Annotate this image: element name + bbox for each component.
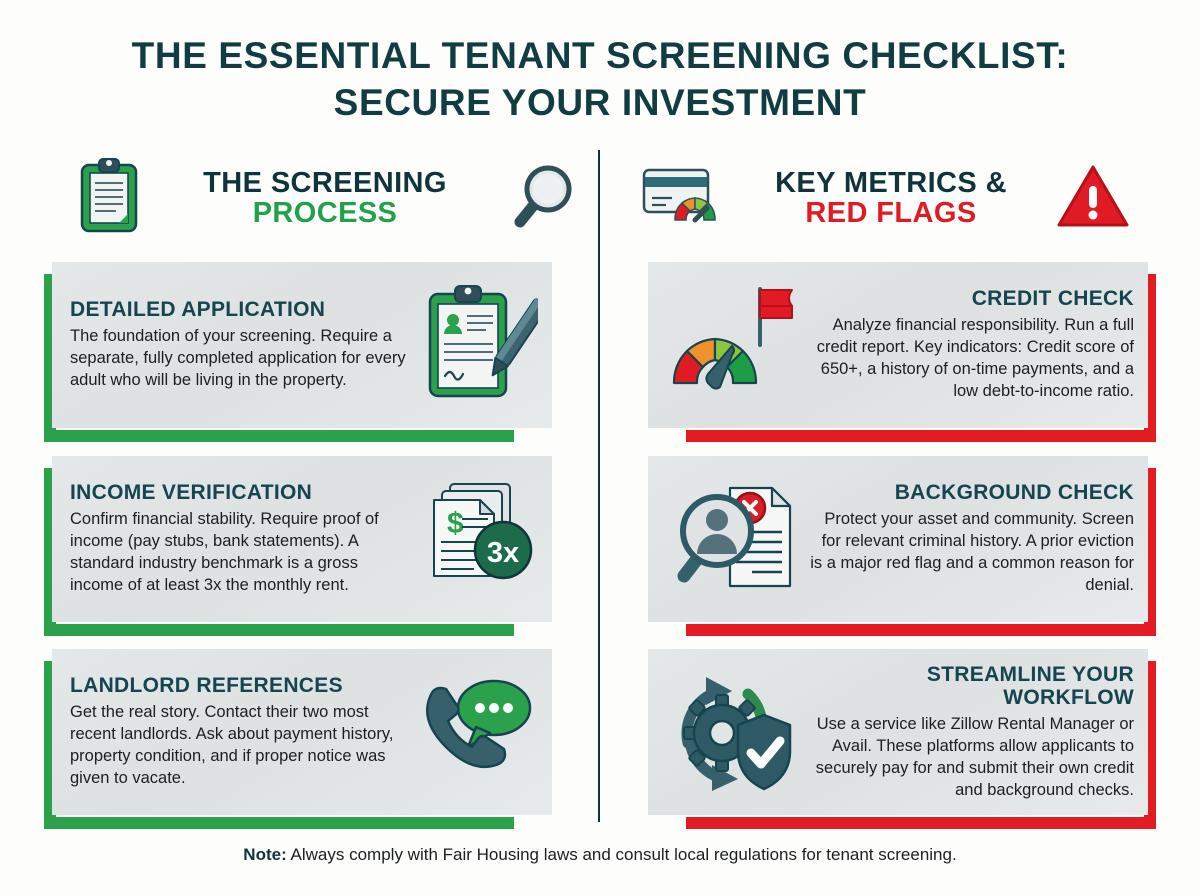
card-title: STREAMLINE YOUR WORKFLOW: [806, 663, 1134, 709]
card-accent-bottom: [44, 624, 514, 636]
card-title: LANDLORD REFERENCES: [70, 674, 410, 697]
card-credit-check[interactable]: CREDIT CHECK Analyze financial responsib…: [644, 262, 1156, 434]
card-accent-bottom: [686, 624, 1156, 636]
documents-3x-icon: $ 3x: [414, 474, 538, 605]
magnifier-person-document-icon: [666, 474, 802, 605]
footer-note-text: Always comply with Fair Housing laws and…: [287, 845, 957, 864]
card-body: INCOME VERIFICATION Confirm financial st…: [70, 481, 414, 597]
card-description: Get the real story. Contact their two mo…: [70, 702, 410, 790]
card-description: Confirm financial stability. Require pro…: [70, 509, 408, 597]
clipboard-icon: [78, 156, 140, 241]
title-line-2: SECURE YOUR INVESTMENT: [0, 79, 1200, 126]
svg-text:$: $: [447, 507, 464, 540]
income-multiplier-badge: 3x: [487, 537, 519, 569]
left-column-title: THE SCREENING PROCESS: [140, 168, 510, 228]
card-body: LANDLORD REFERENCES Get the real story. …: [70, 674, 416, 790]
card-title: BACKGROUND CHECK: [808, 481, 1134, 504]
card-income-verification[interactable]: INCOME VERIFICATION Confirm financial st…: [44, 456, 556, 628]
left-heading-line-1: THE SCREENING: [146, 168, 504, 198]
right-column-header: KEY METRICS & RED FLAGS: [640, 150, 1130, 246]
card-background-check[interactable]: BACKGROUND CHECK Protect your asset and …: [644, 456, 1156, 628]
card-accent-bottom: [44, 817, 514, 829]
card-description: Protect your asset and community. Screen…: [808, 509, 1134, 597]
card-body: STREAMLINE YOUR WORKFLOW Use a service l…: [800, 663, 1134, 802]
title-line-1: THE ESSENTIAL TENANT SCREENING CHECKLIST…: [0, 32, 1200, 79]
footer-note-label: Note:: [243, 845, 286, 864]
right-heading-line-2: RED FLAGS: [732, 198, 1050, 228]
card-description: The foundation of your screening. Requir…: [70, 326, 410, 392]
card-title: DETAILED APPLICATION: [70, 298, 410, 321]
left-column-header: THE SCREENING PROCESS: [78, 150, 578, 246]
infographic-page: THE ESSENTIAL TENANT SCREENING CHECKLIST…: [0, 0, 1200, 896]
card-body: DETAILED APPLICATION The foundation of y…: [70, 298, 416, 392]
page-title: THE ESSENTIAL TENANT SCREENING CHECKLIST…: [0, 32, 1200, 127]
card-title: CREDIT CHECK: [804, 287, 1134, 310]
right-column-title: KEY METRICS & RED FLAGS: [726, 168, 1056, 228]
credit-card-gauge-icon: [640, 160, 726, 237]
red-flag: [760, 289, 792, 345]
card-accent-bottom: [686, 817, 1156, 829]
card-description: Use a service like Zillow Rental Manager…: [806, 714, 1134, 802]
card-accent-bottom: [44, 430, 514, 442]
column-divider: [598, 150, 600, 822]
left-heading-line-2: PROCESS: [146, 198, 504, 228]
card-title: INCOME VERIFICATION: [70, 481, 408, 504]
card-landlord-references[interactable]: LANDLORD REFERENCES Get the real story. …: [44, 649, 556, 821]
clipboard-pen-icon: [416, 278, 538, 413]
phone-chat-icon: [416, 669, 538, 796]
right-heading-line-1: KEY METRICS &: [732, 168, 1050, 198]
card-body: BACKGROUND CHECK Protect your asset and …: [802, 481, 1134, 597]
card-streamline-workflow[interactable]: STREAMLINE YOUR WORKFLOW Use a service l…: [644, 649, 1156, 821]
footer-note: Note: Always comply with Fair Housing la…: [0, 845, 1200, 865]
gear-shield-refresh-icon: [666, 667, 800, 798]
magnifier-icon: [510, 160, 578, 237]
card-detailed-application[interactable]: DETAILED APPLICATION The foundation of y…: [44, 262, 556, 434]
card-accent-bottom: [686, 430, 1156, 442]
warning-triangle-icon: [1056, 162, 1130, 235]
card-description: Analyze financial responsibility. Run a …: [804, 315, 1134, 403]
card-body: CREDIT CHECK Analyze financial responsib…: [798, 287, 1134, 403]
gauge-red-flag-icon: [666, 283, 798, 408]
